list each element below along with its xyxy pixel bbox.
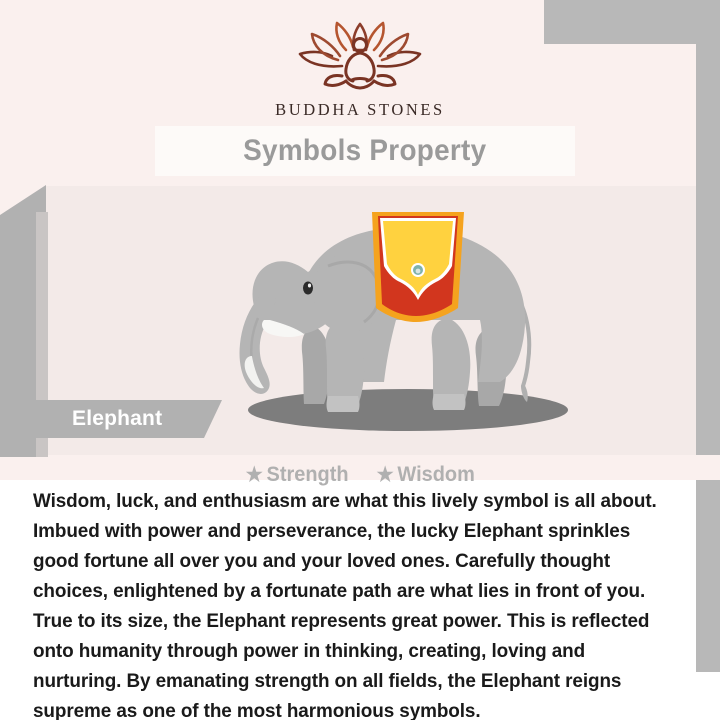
symbol-property-card: BUDDHA STONES Symbols Property [0,0,720,720]
lotus-meditation-icon [280,18,440,96]
elephant-illustration [196,196,616,436]
symbol-keywords: ★Strength ★Wisdom [0,462,720,487]
keyword-strength-label: Strength [266,463,348,486]
brand-name: BUDDHA STONES [0,100,720,120]
page-title: Symbols Property [243,134,486,168]
star-icon: ★ [246,464,263,486]
keyword-strength: ★Strength [246,462,349,487]
symbol-name-banner: Elephant [22,400,222,438]
ground-shadow [248,389,568,431]
keyword-wisdom-label: Wisdom [397,463,474,486]
keyword-wisdom: ★Wisdom [376,462,474,487]
title-banner: Symbols Property [155,126,575,176]
elephant-eye [303,282,313,295]
elephant-blanket [372,212,464,322]
star-icon: ★ [376,464,393,486]
symbol-description: Wisdom, luck, and enthusiasm are what th… [33,486,673,720]
brand-logo: BUDDHA STONES [0,18,720,120]
symbol-name: Elephant [72,407,162,431]
